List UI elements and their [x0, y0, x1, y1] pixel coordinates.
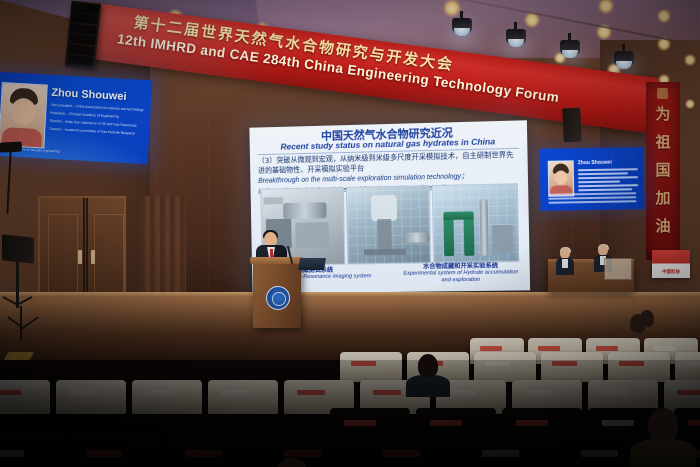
door-panel-left: [48, 214, 78, 300]
audience-seat: [208, 380, 278, 414]
seat-label: [482, 450, 519, 457]
door-handle-left[interactable]: [78, 250, 82, 264]
wall-sign-right: 中国科协: [652, 250, 690, 278]
caption-hydrate-system: 水合物成藏和开采实验系统 Experimental system of Hydr…: [400, 262, 522, 285]
audience-seat: [608, 352, 670, 382]
seat-label: [0, 450, 24, 457]
left-led-speaker-panel: Zhou Shouwei Vice president，China Associ…: [0, 72, 152, 165]
slide-photo-reactor: [345, 185, 431, 264]
seat-label: [69, 390, 97, 395]
seat-label: [351, 361, 376, 366]
downlight-24: [685, 99, 695, 109]
seat-label: [145, 390, 173, 395]
seat-label: [602, 420, 634, 426]
seated-panelist-1: [556, 248, 574, 274]
audience-seat: [340, 352, 402, 382]
banner-seal-icon: [657, 88, 668, 99]
seat-label: [485, 361, 510, 366]
audience-seat: [0, 380, 50, 414]
podium-laptop: [298, 258, 326, 270]
seat-label: [581, 450, 618, 457]
stage-light-3: [560, 40, 580, 55]
vbanner-char-1: 祖: [655, 128, 670, 156]
seat-label: [596, 346, 618, 351]
podium-top: [250, 257, 304, 264]
right-bottom-lines: [548, 192, 636, 205]
seated-audience: [0, 296, 700, 467]
slide-photo-hydrate-rig: [432, 183, 519, 263]
audience-seat: [56, 380, 126, 414]
downlight-23: [684, 54, 696, 66]
seat-label: [0, 390, 21, 395]
seat-label: [344, 420, 376, 426]
wall-speaker-right: [562, 108, 582, 143]
vbanner-char-2: 国: [655, 156, 670, 184]
stage-light-4: [614, 51, 634, 66]
audience-shoulders: [630, 439, 696, 467]
conference-hall-photo: 第十二届世界天然气水合物研究与开发大会 12th IMHRD and CAE 2…: [0, 0, 700, 467]
audience-seat: [541, 352, 603, 382]
seat-label: [654, 346, 676, 351]
downlight-11: [657, 9, 671, 23]
seat-label: [677, 390, 700, 395]
stage-light-2: [506, 29, 526, 44]
seat-label: [480, 346, 502, 351]
seat-label: [297, 390, 325, 395]
wall-sign-text: 中国科协: [652, 269, 690, 275]
seat-label: [688, 420, 700, 426]
audience-head: [418, 354, 438, 378]
door-handle-right[interactable]: [91, 250, 95, 264]
seat-label: [373, 390, 401, 395]
caption-hydrate-en: Experimental system of Hydrate accumulat…: [400, 269, 522, 285]
audience-head: [640, 310, 654, 327]
door-panel-right: [94, 214, 124, 300]
right-led-panel: Zhou Shouwei: [539, 147, 644, 211]
audience-seat: [474, 352, 536, 382]
seat-label: [185, 450, 222, 457]
seat-label: [538, 346, 560, 351]
seat-label: [86, 450, 123, 457]
seat-label: [601, 390, 629, 395]
stage-light-1: [452, 18, 472, 33]
seat-label: [430, 420, 462, 426]
vertical-calligraphy-banner: 为 祖 国 加 油: [646, 82, 680, 260]
speaker-name-label: Zhou Shouwei: [51, 87, 127, 103]
vbanner-char-0: 为: [655, 100, 670, 128]
seat-label: [619, 361, 644, 366]
right-name-label: Zhou Shouwei: [578, 160, 612, 167]
audience-seat: [132, 380, 202, 414]
seat-label: [284, 450, 321, 457]
wall-notice-frame: [604, 258, 632, 280]
seat-label: [552, 361, 577, 366]
audience-head: [648, 408, 678, 442]
seat-label: [449, 390, 477, 395]
speaker-portrait-photo: [0, 82, 48, 148]
right-portrait-photo: [548, 160, 575, 196]
right-bio-lines: [578, 168, 638, 193]
slide-photo-strip: [260, 183, 519, 266]
vbanner-char-3: 加: [655, 184, 670, 212]
seat-label: [686, 361, 700, 366]
seat-label: [383, 450, 420, 457]
seat-label: [516, 420, 548, 426]
audience-seat: [675, 352, 700, 382]
seat-label: [525, 390, 553, 395]
vbanner-char-4: 油: [655, 212, 670, 240]
audience-shoulders: [406, 375, 450, 397]
seat-label: [221, 390, 249, 395]
